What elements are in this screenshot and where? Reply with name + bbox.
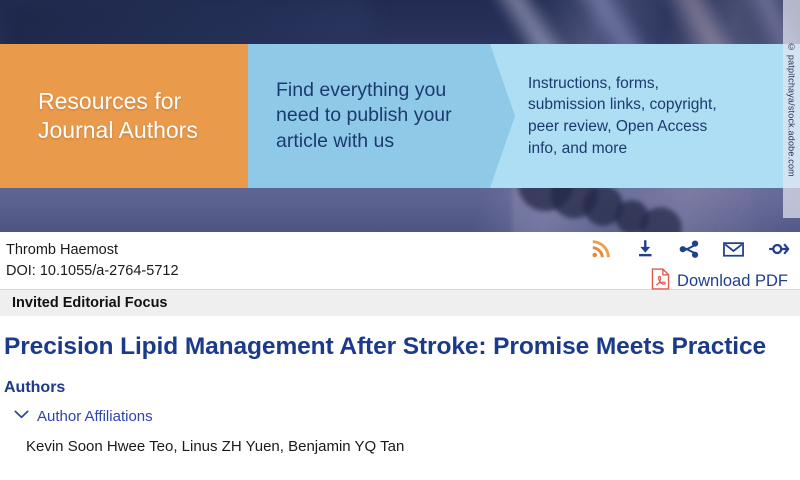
banner-instructions-line3: peer review, Open Access — [528, 118, 707, 135]
page-root: Resources for Journal Authors Find every… — [0, 0, 800, 480]
banner-find-line2: need to publish your — [276, 104, 452, 126]
rss-icon[interactable] — [590, 238, 612, 265]
banner-panel-find-text: Find everything you need to publish your… — [276, 78, 452, 154]
banner-find-line1: Find everything you — [276, 79, 446, 101]
permalink-icon[interactable] — [767, 238, 790, 265]
banner-find-line3: article with us — [276, 130, 394, 152]
banner-image-credit: © patpitchaya/stock.adobe.com — [783, 0, 800, 218]
banner-instructions-line2: submission links, copyright, — [528, 96, 717, 113]
share-icon[interactable] — [678, 238, 700, 265]
author-affiliations-toggle[interactable]: Author Affiliations — [0, 397, 800, 425]
journal-author-resources-banner[interactable]: Resources for Journal Authors Find every… — [0, 0, 800, 232]
author-affiliations-label: Author Affiliations — [37, 408, 153, 425]
banner-panel-resources[interactable]: Resources for Journal Authors — [0, 44, 248, 188]
article-tool-icons — [590, 238, 790, 265]
download-icon[interactable] — [634, 238, 656, 265]
article-title: Precision Lipid Management After Stroke:… — [0, 316, 800, 361]
banner-resources-line1: Resources for — [38, 88, 181, 114]
email-icon[interactable] — [722, 238, 745, 265]
banner-panels: Resources for Journal Authors Find every… — [0, 44, 800, 188]
article-type-label: Invited Editorial Focus — [12, 295, 168, 311]
authors-heading: Authors — [0, 361, 800, 397]
pdf-file-icon — [651, 268, 670, 295]
banner-instructions-line1: Instructions, forms, — [528, 75, 659, 92]
author-name-list: Kevin Soon Hwee Teo, Linus ZH Yuen, Benj… — [0, 425, 800, 455]
download-pdf-button[interactable]: Download PDF — [651, 268, 788, 295]
banner-panel-instructions[interactable]: Instructions, forms, submission links, c… — [490, 44, 800, 188]
article-meta-row: Thromb Haemost DOI: 10.1055/a-2764-5712 — [0, 232, 800, 289]
banner-panel-instructions-text: Instructions, forms, submission links, c… — [528, 73, 717, 160]
banner-panel-find[interactable]: Find everything you need to publish your… — [248, 44, 490, 188]
banner-instructions-line4: info, and more — [528, 140, 627, 157]
chevron-down-icon — [14, 407, 29, 425]
download-pdf-label: Download PDF — [677, 272, 788, 291]
banner-resources-line2: Journal Authors — [38, 117, 198, 143]
banner-panel-resources-text: Resources for Journal Authors — [38, 87, 198, 145]
